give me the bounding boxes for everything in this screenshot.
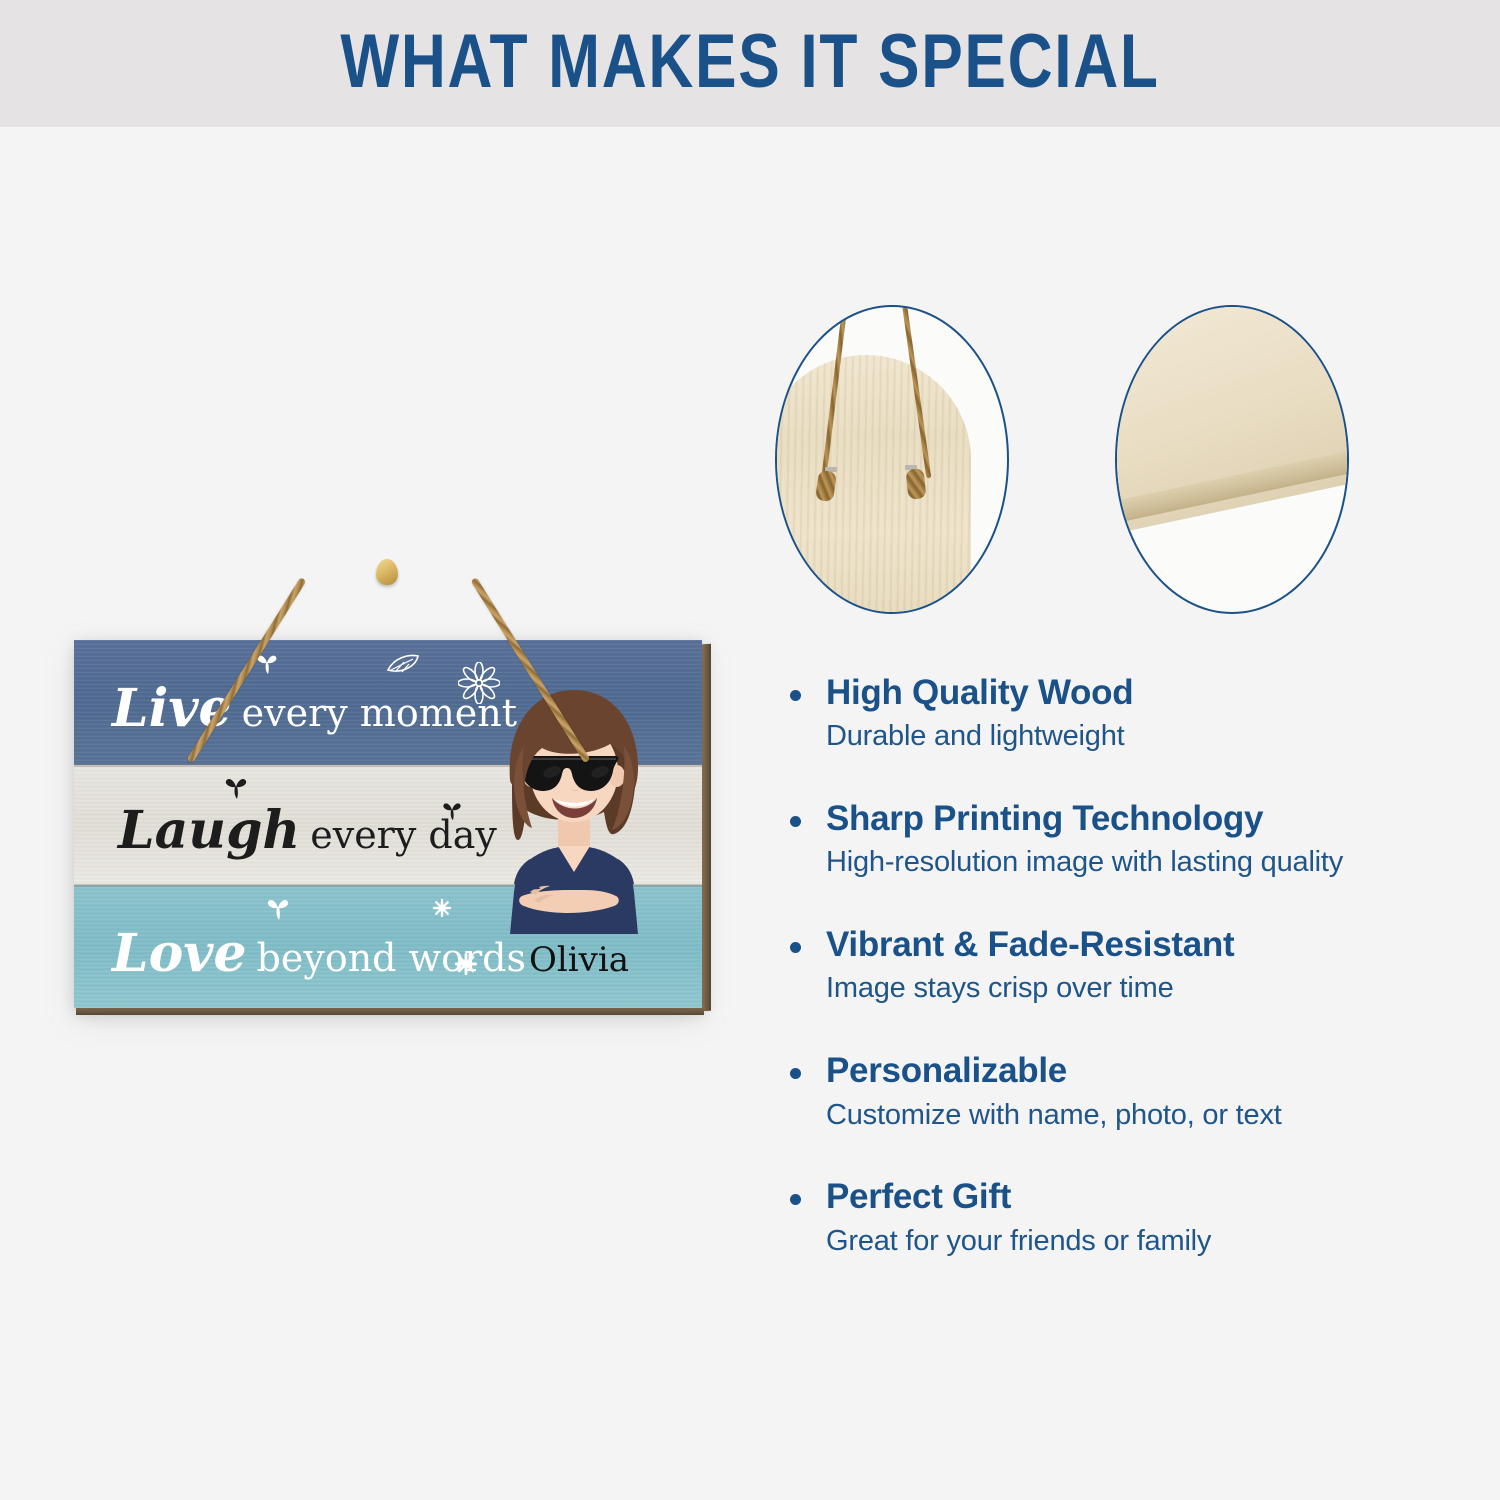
- sign-line-1-script: Live: [112, 678, 232, 739]
- feature-title: Vibrant & Fade-Resistant: [826, 924, 1462, 965]
- sign-line-2: Laughevery day: [118, 800, 497, 861]
- infographic-page: WHAT MAKES IT SPECIAL Liveevery moment L…: [0, 0, 1500, 1500]
- sign-line-2-text: every day: [310, 813, 497, 857]
- product-image: Liveevery moment Laughevery day Lovebeyo…: [0, 127, 760, 1500]
- sign-line-3-script: Love: [112, 923, 247, 984]
- feature-title: Personalizable: [826, 1050, 1462, 1091]
- feature-item: Personalizable Customize with name, phot…: [782, 1050, 1462, 1132]
- sign-line-1: Liveevery moment: [112, 678, 517, 739]
- nail-head-icon: [376, 559, 398, 585]
- rope-knot-right: [905, 468, 926, 500]
- feature-item: High Quality Wood Durable and lightweigh…: [782, 672, 1462, 754]
- feature-subtitle: High-resolution image with lasting quali…: [826, 845, 1462, 880]
- feature-title: Perfect Gift: [826, 1176, 1462, 1217]
- feature-item: Vibrant & Fade-Resistant Image stays cri…: [782, 924, 1462, 1006]
- character-name: Olivia: [484, 940, 674, 980]
- feature-item: Perfect Gift Great for your friends or f…: [782, 1176, 1462, 1258]
- detail-circle-rope-knot: [775, 305, 1009, 614]
- sign-edge-right: [702, 644, 711, 1011]
- bullet-icon: [790, 816, 801, 827]
- feature-subtitle: Image stays crisp over time: [826, 971, 1462, 1006]
- feature-subtitle: Durable and lightweight: [826, 719, 1462, 754]
- wood-back-surface: [775, 355, 971, 614]
- feature-title: Sharp Printing Technology: [826, 798, 1462, 839]
- feature-item: Sharp Printing Technology High-resolutio…: [782, 798, 1462, 880]
- bullet-icon: [790, 690, 801, 701]
- sign-line-2-script: Laugh: [118, 800, 300, 861]
- bullet-icon: [790, 942, 801, 953]
- feature-subtitle: Great for your friends or family: [826, 1224, 1462, 1259]
- page-title: WHAT MAKES IT SPECIAL: [135, 18, 1365, 105]
- feature-list: High Quality Wood Durable and lightweigh…: [782, 672, 1462, 1302]
- feature-title: High Quality Wood: [826, 672, 1462, 713]
- feature-subtitle: Customize with name, photo, or text: [826, 1098, 1462, 1133]
- character-avatar: [474, 660, 674, 960]
- detail-circle-wood-edge: [1115, 305, 1349, 614]
- bullet-icon: [790, 1068, 801, 1079]
- wood-sign: Liveevery moment Laughevery day Lovebeyo…: [74, 640, 702, 1008]
- bullet-icon: [790, 1194, 801, 1205]
- sign-line-3: Lovebeyond words: [112, 923, 526, 984]
